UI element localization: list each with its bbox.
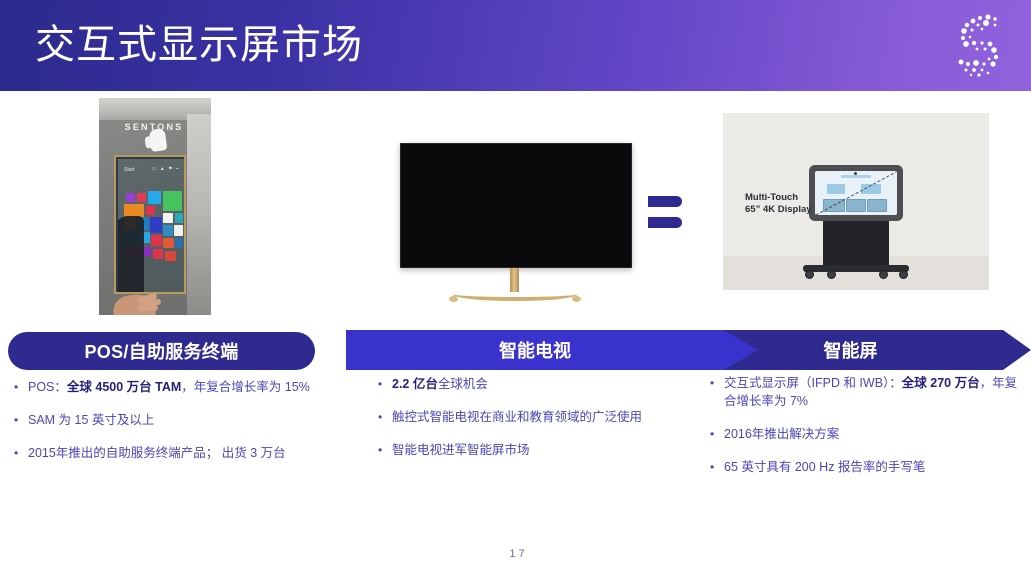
- start-tile: [174, 225, 183, 236]
- banner-smart-tv[interactable]: 智能电视: [346, 330, 758, 370]
- cart-caster: [805, 270, 814, 279]
- kiosk-frame: Start ▭ ▲ ⚑ ⌁: [114, 155, 186, 294]
- sentons-dotted-s-logo: [947, 12, 1009, 80]
- bullet-dot-icon: •: [14, 378, 28, 396]
- bullet-text: 2015年推出的自助服务终端产品； 出货 3 万台: [28, 444, 326, 462]
- start-tile: [150, 217, 162, 233]
- start-tile: [146, 206, 155, 215]
- bullet-item: •POS：全球 4500 万台 TAM，年复合增长率为 15%: [14, 378, 326, 396]
- start-tile: [165, 251, 176, 261]
- banner-pos-label: POS/自助服务终端: [84, 338, 238, 364]
- bullet-text: 智能电视进军智能屏市场: [392, 441, 698, 459]
- start-tile: [163, 225, 173, 236]
- bullet-dot-icon: •: [378, 375, 392, 393]
- start-tile: [148, 191, 161, 204]
- bullet-dot-icon: •: [378, 441, 392, 459]
- bullet-item: •65 英寸具有 200 Hz 报告率的手写笔: [710, 458, 1020, 476]
- bullet-item: •2.2 亿台全球机会: [378, 375, 698, 393]
- cart-caster: [879, 270, 888, 279]
- start-tile: [153, 249, 163, 259]
- bullet-dot-icon: •: [710, 425, 724, 443]
- kiosk-background-wall: [187, 114, 211, 315]
- start-tile: [151, 235, 162, 246]
- cart-caster: [827, 270, 836, 279]
- equals-bar-top: [648, 196, 682, 207]
- cart-caster: [899, 270, 908, 279]
- start-tile: [175, 213, 183, 223]
- kiosk-user-hand: [107, 281, 173, 315]
- bullet-item: •2015年推出的自助服务终端产品； 出货 3 万台: [14, 444, 326, 462]
- bullet-item: •交互式显示屏（IFPD 和 IWB）：全球 270 万台，年复合增长率为 7%: [710, 374, 1020, 410]
- bullet-text: 触控式智能电视在商业和教育领域的广泛使用: [392, 408, 698, 426]
- diagonal-measure-line: [809, 165, 903, 221]
- equals-sign-icon: [648, 196, 682, 234]
- bullet-list-smart-tv: •2.2 亿台全球机会•触控式智能电视在商业和教育领域的广泛使用•智能电视进军智…: [378, 375, 698, 474]
- bullet-dot-icon: •: [710, 374, 724, 410]
- display-cart-body: [823, 221, 889, 271]
- bullet-dot-icon: •: [710, 458, 724, 476]
- slide-header: 交互式显示屏市场: [0, 0, 1031, 91]
- start-tile: [163, 238, 174, 248]
- bullet-text: SAM 为 15 英寸及以上: [28, 411, 326, 429]
- bullet-dot-icon: •: [14, 411, 28, 429]
- bullet-text: 2.2 亿台全球机会: [392, 375, 698, 393]
- display-caption: Multi-Touch 65” 4K Display: [745, 192, 812, 216]
- bullet-text: 65 英寸具有 200 Hz 报告率的手写笔: [724, 458, 1020, 476]
- page-number: 1 7: [509, 548, 525, 560]
- start-tile: [163, 213, 173, 223]
- bullet-text: POS：全球 4500 万台 TAM，年复合增长率为 15%: [28, 378, 326, 396]
- tv-stand-base: [452, 287, 578, 301]
- banner-smart-tv-label: 智能电视: [346, 337, 758, 363]
- kiosk-system-icons: ▭ ▲ ⚑ ⌁: [152, 166, 180, 172]
- hand-finger: [138, 305, 158, 312]
- multitouch-display-photo: Multi-Touch 65” 4K Display: [723, 113, 989, 290]
- bullet-dot-icon: •: [378, 408, 392, 426]
- bullet-list-pos: •POS：全球 4500 万台 TAM，年复合增长率为 15%•SAM 为 15…: [14, 378, 326, 477]
- banner-pos[interactable]: POS/自助服务终端: [8, 332, 315, 370]
- page-title: 交互式显示屏市场: [35, 17, 363, 73]
- bullet-text: 2016年推出解决方案: [724, 425, 1020, 443]
- bullet-item: •智能电视进军智能屏市场: [378, 441, 698, 459]
- bullet-item: •触控式智能电视在商业和教育领域的广泛使用: [378, 408, 698, 426]
- tv-screen: [400, 143, 632, 268]
- display-cart-axle: [803, 265, 909, 272]
- bullet-text: 交互式显示屏（IFPD 和 IWB）：全球 270 万台，年复合增长率为 7%: [724, 374, 1020, 410]
- hand-logo-icon: [149, 128, 168, 152]
- kiosk-screen: Start ▭ ▲ ⚑ ⌁: [118, 159, 184, 292]
- bullet-list-smart-screen: •交互式显示屏（IFPD 和 IWB）：全球 270 万台，年复合增长率为 7%…: [710, 374, 1020, 491]
- start-tile: [175, 238, 183, 248]
- slide-canvas: 交互式显示屏市场: [0, 0, 1031, 577]
- kiosk-photo: SENTONS Start ▭ ▲ ⚑ ⌁: [99, 98, 211, 315]
- start-tile: [137, 193, 146, 202]
- equals-bar-bottom: [648, 217, 682, 228]
- start-tile: [126, 193, 135, 202]
- bullet-item: •SAM 为 15 英寸及以上: [14, 411, 326, 429]
- start-tile: [163, 191, 182, 211]
- smart-tv-photo: [390, 137, 640, 309]
- bullet-item: •2016年推出解决方案: [710, 425, 1020, 443]
- bullet-dot-icon: •: [14, 444, 28, 462]
- kiosk-start-label: Start: [124, 167, 135, 173]
